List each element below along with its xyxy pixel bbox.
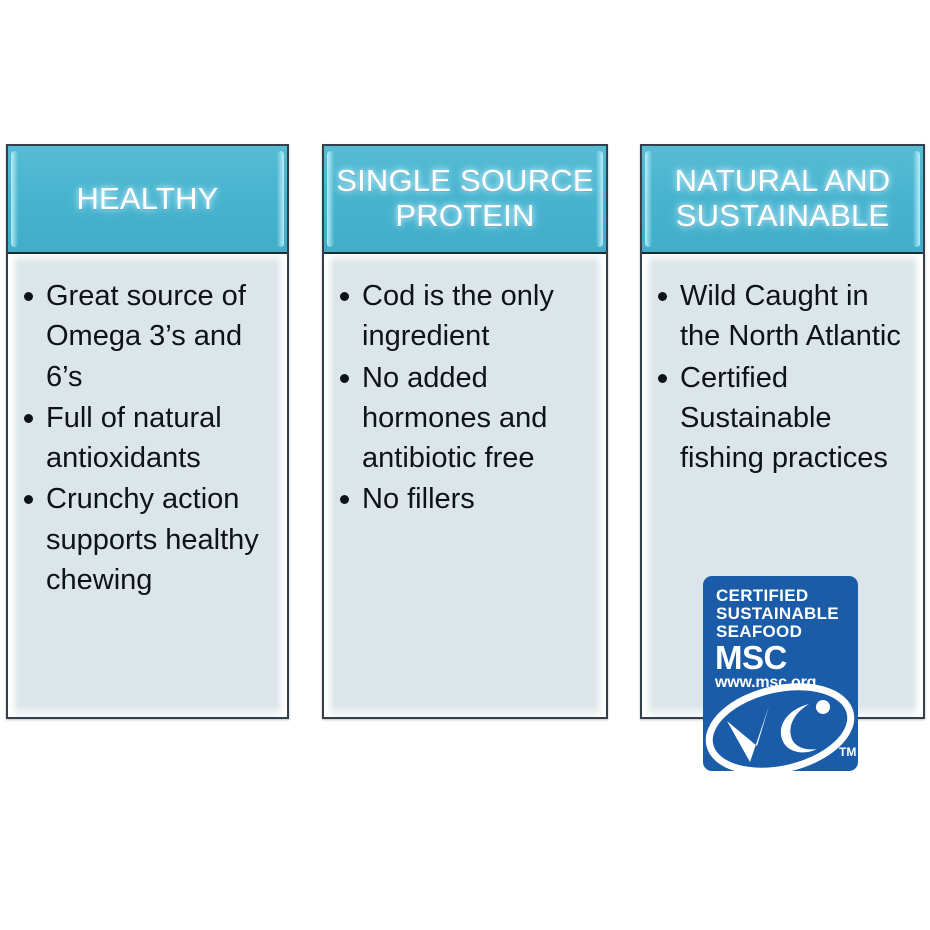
panel-body-single-source-protein: Cod is the only ingredient No added horm… (324, 254, 606, 717)
msc-line1: CERTIFIED (716, 586, 808, 605)
msc-trademark: TM (839, 745, 856, 759)
panel-header-single-source-protein: SINGLE SOURCE PROTEIN (324, 146, 606, 254)
list-item: Wild Caught in the North Atlantic (680, 276, 909, 358)
list-item: Cod is the only ingredient (362, 276, 592, 358)
benefit-list-single-source-protein: Cod is the only ingredient No added horm… (324, 254, 606, 521)
list-item: Certified Sustainable fishing practices (680, 358, 909, 480)
panel-header-healthy: HEALTHY (8, 146, 287, 254)
panel-title-single-source-protein: SINGLE SOURCE PROTEIN (324, 164, 606, 233)
list-item: Great source of Omega 3’s and 6’s (46, 276, 273, 398)
benefits-panel-board: HEALTHY Great source of Omega 3’s and 6’… (0, 0, 930, 930)
msc-wordmark: MSC (715, 639, 787, 676)
benefit-list-healthy: Great source of Omega 3’s and 6’s Full o… (8, 254, 287, 601)
benefit-list-natural-and-sustainable: Wild Caught in the North Atlantic Certif… (642, 254, 923, 479)
list-item: No added hormones and antibiotic free (362, 358, 592, 480)
list-item: No fillers (362, 479, 592, 520)
msc-line2: SUSTAINABLE (716, 604, 839, 623)
panel-header-natural-and-sustainable: NATURAL AND SUSTAINABLE (642, 146, 923, 254)
msc-logo-icon: CERTIFIED SUSTAINABLE SEAFOOD MSC www.ms… (703, 576, 858, 771)
panel-title-healthy: HEALTHY (64, 182, 230, 217)
benefit-panel-single-source-protein: SINGLE SOURCE PROTEIN Cod is the only in… (322, 144, 608, 719)
msc-logo: CERTIFIED SUSTAINABLE SEAFOOD MSC www.ms… (703, 576, 858, 771)
benefit-panel-healthy: HEALTHY Great source of Omega 3’s and 6’… (6, 144, 289, 719)
panel-title-natural-and-sustainable: NATURAL AND SUSTAINABLE (642, 164, 923, 233)
list-item: Full of natural antioxidants (46, 398, 273, 480)
list-item: Crunchy action supports healthy chewing (46, 479, 273, 601)
panel-body-healthy: Great source of Omega 3’s and 6’s Full o… (8, 254, 287, 717)
